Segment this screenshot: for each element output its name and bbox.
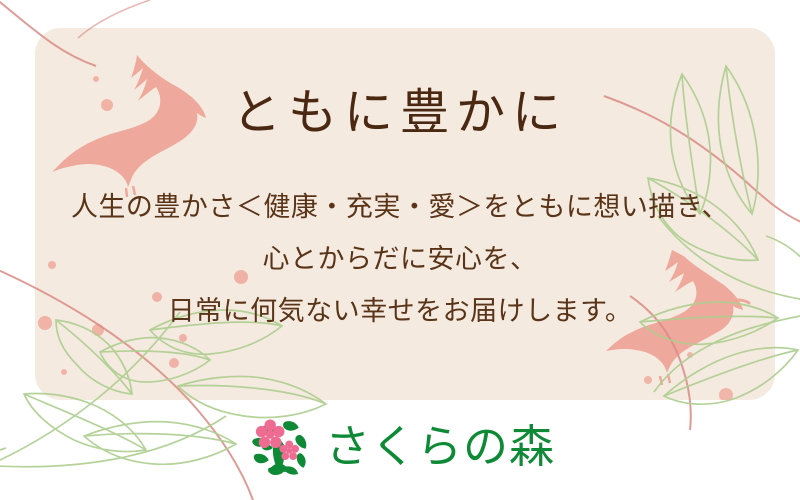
- sakura-tree-logo-mark-icon: [245, 412, 313, 480]
- tagline-line-3: 日常に何気ない幸せをお届けします。: [0, 286, 800, 338]
- promo-banner: ともに豊かに 人生の豊かさ＜健康・充実・愛＞をともに想い描き、 心とからだに安心…: [0, 0, 800, 500]
- brand-logo[interactable]: さくらの森: [0, 412, 800, 480]
- text-content: ともに豊かに 人生の豊かさ＜健康・充実・愛＞をともに想い描き、 心とからだに安心…: [0, 0, 800, 500]
- tagline-line-1: 人生の豊かさ＜健康・充実・愛＞をともに想い描き、: [0, 182, 800, 234]
- page-title: ともに豊かに: [0, 86, 800, 140]
- tagline-block: 人生の豊かさ＜健康・充実・愛＞をともに想い描き、 心とからだに安心を、 日常に何…: [0, 182, 800, 338]
- brand-logo-text: さくらの森: [325, 424, 555, 469]
- tagline-line-2: 心とからだに安心を、: [0, 234, 800, 286]
